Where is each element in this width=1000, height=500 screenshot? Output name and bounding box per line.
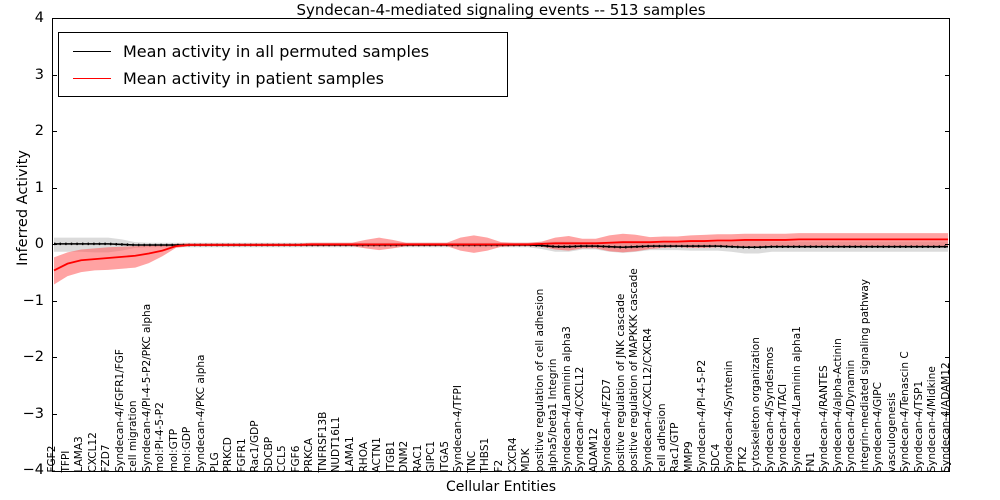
x-axis-tick-label: positive regulation of JNK cascade: [616, 293, 627, 472]
x-axis-tick-label: cytoskeleton organization: [751, 337, 762, 472]
y-axis-tick-label: −3: [0, 406, 44, 422]
x-axis-tick-label: Syndecan-4/Dynamin: [846, 359, 857, 472]
x-axis-tick-label: PLG: [210, 452, 221, 472]
y-axis-tick-label: −2: [0, 349, 44, 365]
x-axis-tick-label: Syndecan-4/TACI: [779, 383, 790, 472]
x-axis-tick-label: SDC4: [711, 443, 722, 472]
x-axis-tick-label: Syndecan-4/CXCL12/CXCR4: [643, 328, 654, 472]
x-axis-tick-label: MDK: [521, 448, 532, 472]
y-axis-tick-label: 3: [0, 67, 44, 83]
x-axis-tick-label: Syndecan-4/FGFR1/FGF: [115, 349, 126, 472]
x-axis-tick-label: Rac1/GTP: [670, 422, 681, 472]
legend-swatch-patient: [73, 78, 111, 79]
y-axis-tick-label: 4: [0, 10, 44, 26]
x-axis-tick-label: mol:PI-4-5-P2: [155, 402, 166, 472]
chart-figure: Syndecan-4-mediated signaling events -- …: [0, 0, 1000, 500]
chart-title: Syndecan-4-mediated signaling events -- …: [52, 1, 950, 19]
x-axis-tick-label: Syndecan-4/Midkine: [928, 366, 939, 472]
x-axis-tick-label: TNFRSF13B: [318, 411, 329, 472]
patient-confidence-band: [54, 233, 948, 284]
x-axis-tick-label: Syndecan-4/FZD7: [602, 378, 613, 472]
x-axis-tick-label: Syndecan-4/GIPC: [873, 382, 884, 472]
x-axis-tick-label: Syndecan-4/Tenascin C: [900, 351, 911, 472]
x-axis-tick-label: RHOA: [359, 442, 370, 472]
x-axis-tick-label: Syndecan-4/ADAM12: [941, 362, 952, 472]
x-axis-tick-label: Syndecan-4/PKC alpha: [196, 354, 207, 472]
x-axis-tick-label: THBS1: [481, 437, 492, 472]
x-axis-tick-label: Syndecan-4/Laminin alpha1: [792, 326, 803, 472]
legend-item-patient: Mean activity in patient samples: [69, 65, 384, 91]
x-axis-tick-label: NUDT16L1: [332, 416, 343, 472]
x-axis-tick-label: MMP9: [684, 441, 695, 472]
x-axis-tick-label: CXCR4: [508, 437, 518, 472]
x-axis-tick-label: TNC: [467, 450, 478, 472]
x-axis-tick-label: Rac1/GDP: [250, 420, 261, 472]
x-axis-tick-label: FGF2: [47, 445, 58, 472]
x-axis-tick-label: LAMA3: [74, 436, 85, 472]
x-axis-tick-label: PRKCD: [223, 437, 234, 472]
x-axis-tick-label: integrin-mediated signaling pathway: [860, 278, 871, 472]
x-axis-tick-label: CCL5: [277, 445, 288, 472]
x-axis-label: Cellular Entities: [52, 479, 950, 495]
x-axis-tick-label: positive regulation of cell adhesion: [535, 288, 546, 472]
x-axis-tick-label: Syndecan-4/Syntenin: [724, 360, 735, 472]
x-axis-tick-label: SDCBP: [264, 436, 275, 472]
x-axis-tick-label: Syndecan-4/CXCL12: [575, 366, 586, 472]
x-axis-tick-label: alpha5/beta1 Integrin: [548, 358, 559, 472]
legend-label-patient: Mean activity in patient samples: [123, 69, 384, 88]
x-axis-tick-label: FN1: [806, 451, 817, 472]
legend: Mean activity in all permuted samples Me…: [58, 32, 508, 97]
x-axis-tick-label: CXCL12: [88, 432, 99, 472]
x-axis-tick-label: FZD7: [101, 444, 112, 472]
x-axis-tick-label: ACTN1: [372, 437, 383, 472]
x-axis-tick-label: FGF6: [291, 445, 302, 472]
x-axis-tick-label: FGFR1: [237, 438, 248, 472]
x-axis-tick-label: ITGA5: [440, 440, 451, 472]
x-axis-tick-label: vasculogenesis: [887, 392, 898, 472]
y-axis-tick-label: −4: [0, 462, 44, 478]
x-axis-tick-label: cell migration: [128, 400, 139, 472]
x-axis-tick-label: LAMA1: [345, 436, 356, 472]
x-axis-tick-label: Syndecan-4/PI-4-5-P2/PKC alpha: [142, 303, 153, 472]
x-axis-tick-label: Syndecan-4/TFPI: [453, 385, 464, 472]
x-axis-tick-label: mol:GDP: [183, 426, 194, 472]
legend-swatch-permuted: [73, 51, 111, 52]
x-axis-tick-label: positive regulation of MAPKKK cascade: [630, 268, 641, 472]
x-axis-tick-label: DNM2: [399, 440, 410, 472]
x-axis-tick-label: PRKCA: [304, 438, 315, 472]
y-axis-label: Inferred Activity: [15, 98, 31, 318]
x-axis-tick-label: TFPI: [61, 450, 72, 472]
legend-label-permuted: Mean activity in all permuted samples: [123, 42, 429, 61]
x-axis-tick-label: GIPC1: [426, 440, 437, 472]
x-axis-tick-label: Syndecan-4/RANTES: [819, 365, 830, 472]
x-axis-tick-label: Syndecan-4/Syndesmos: [765, 346, 776, 472]
x-axis-tick-label: Syndecan-4/PI-4-5-P2: [697, 359, 708, 472]
x-axis-tick-label: ITGB1: [386, 440, 397, 472]
legend-item-permuted: Mean activity in all permuted samples: [69, 38, 429, 64]
x-axis-tick-label: Syndecan-4/TSP1: [914, 380, 925, 472]
x-axis-tick-label: PTK2: [738, 446, 749, 472]
x-axis-tick-label: Syndecan-4/alpha-Actinin: [833, 338, 844, 472]
x-axis-tick-label: F2: [494, 459, 505, 472]
x-axis-tick-label: RAC1: [413, 444, 424, 472]
x-axis-tick-label: mol:GTP: [169, 428, 180, 472]
x-axis-tick-label: cell adhesion: [657, 403, 668, 472]
x-axis-tick-label: ADAM12: [589, 427, 600, 472]
x-axis-tick-label: Syndecan-4/Laminin alpha3: [562, 326, 573, 472]
